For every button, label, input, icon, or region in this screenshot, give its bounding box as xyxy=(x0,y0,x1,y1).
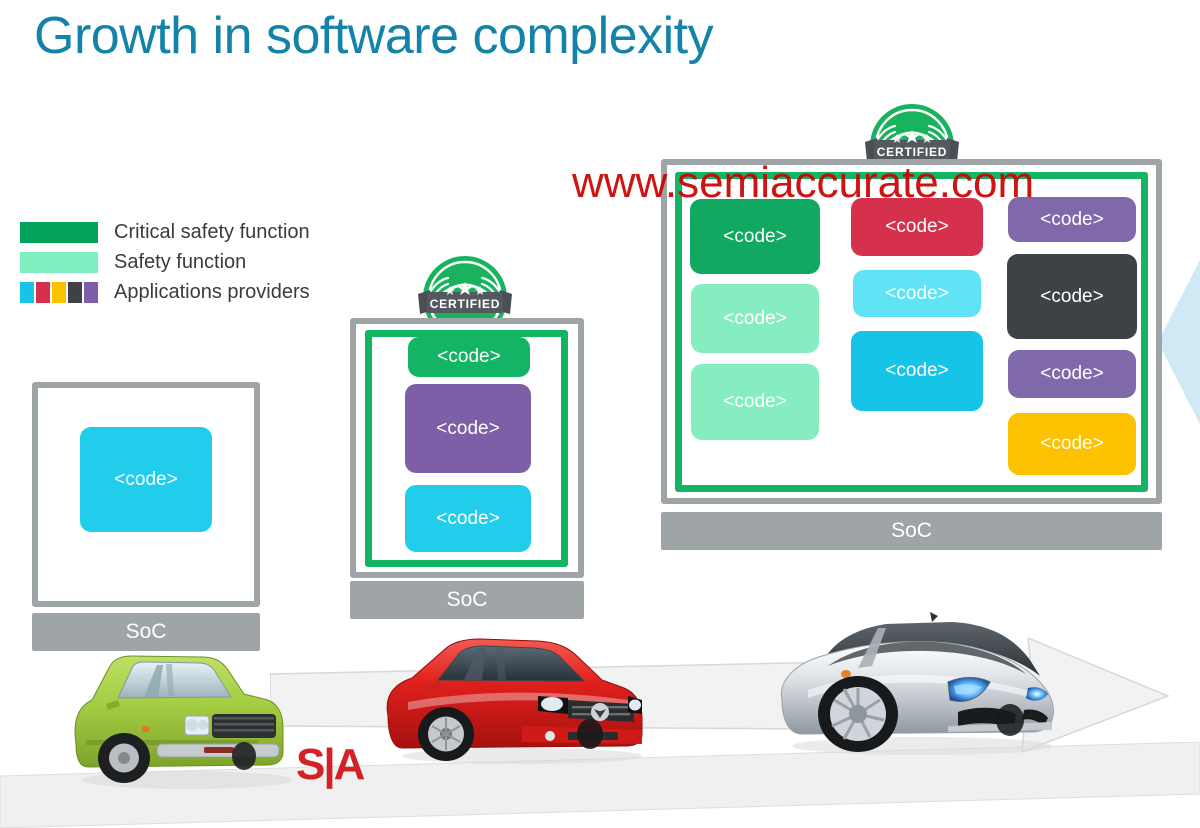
legend-swatch-critical-safety xyxy=(20,222,98,243)
watermark-logo: S|A xyxy=(296,740,363,790)
legend-row-safety: Safety function xyxy=(20,248,350,276)
stage-3-code-block-c1-2[interactable]: <code> xyxy=(691,284,819,353)
legend-swatch-app-cyan xyxy=(20,282,34,303)
legend: Critical safety function Safety function… xyxy=(20,218,350,308)
stage-1-code-block-1[interactable]: <code> xyxy=(80,427,212,532)
stage-3-code-block-c2-2[interactable]: <code> xyxy=(853,270,981,317)
legend-swatch-app-red xyxy=(36,282,50,303)
chevron-left-icon xyxy=(1158,252,1200,437)
car-green-hatchback xyxy=(62,648,302,803)
stage-3-code-block-c2-3[interactable]: <code> xyxy=(851,331,983,411)
legend-label-applications: Applications providers xyxy=(114,281,310,304)
car-silver-concept xyxy=(762,604,1062,769)
stage-3-code-block-c3-2[interactable]: <code> xyxy=(1007,254,1137,339)
stage-3-code-block-c3-3[interactable]: <code> xyxy=(1008,350,1136,398)
legend-label-critical-safety: Critical safety function xyxy=(114,221,310,244)
stage-3-code-block-c3-4[interactable]: <code> xyxy=(1008,413,1136,475)
stage-2-soc-label: SoC xyxy=(350,581,584,619)
legend-swatch-app-purple xyxy=(84,282,98,303)
legend-swatch-safety xyxy=(20,252,98,273)
legend-row-applications: Applications providers xyxy=(20,278,350,306)
stage-3-code-block-c2-1[interactable]: <code> xyxy=(851,198,983,256)
stage-3-code-block-c1-3[interactable]: <code> xyxy=(691,364,819,440)
stage-2-code-block-2[interactable]: <code> xyxy=(405,384,531,473)
stage-3-certified-text: CERTIFIED xyxy=(877,145,948,159)
stage-2-certified-text: CERTIFIED xyxy=(430,297,501,311)
stage-2-code-block-3[interactable]: <code> xyxy=(405,485,531,552)
legend-swatch-applications xyxy=(20,282,98,303)
car-red-sedan xyxy=(372,630,650,775)
slide-canvas: Growth in software complexity Critical s… xyxy=(0,0,1200,827)
stage-1-soc-label: SoC xyxy=(32,613,260,651)
legend-label-safety: Safety function xyxy=(114,251,246,274)
stage-3-code-block-c1-1[interactable]: <code> xyxy=(690,199,820,274)
stage-2-code-block-1[interactable]: <code> xyxy=(408,337,530,377)
legend-swatch-app-dark xyxy=(68,282,82,303)
stage-3-soc-label: SoC xyxy=(661,512,1162,550)
page-title: Growth in software complexity xyxy=(34,6,713,66)
legend-swatch-app-yellow xyxy=(52,282,66,303)
stage-3-code-block-c3-1[interactable]: <code> xyxy=(1008,197,1136,242)
legend-row-critical-safety: Critical safety function xyxy=(20,218,350,246)
